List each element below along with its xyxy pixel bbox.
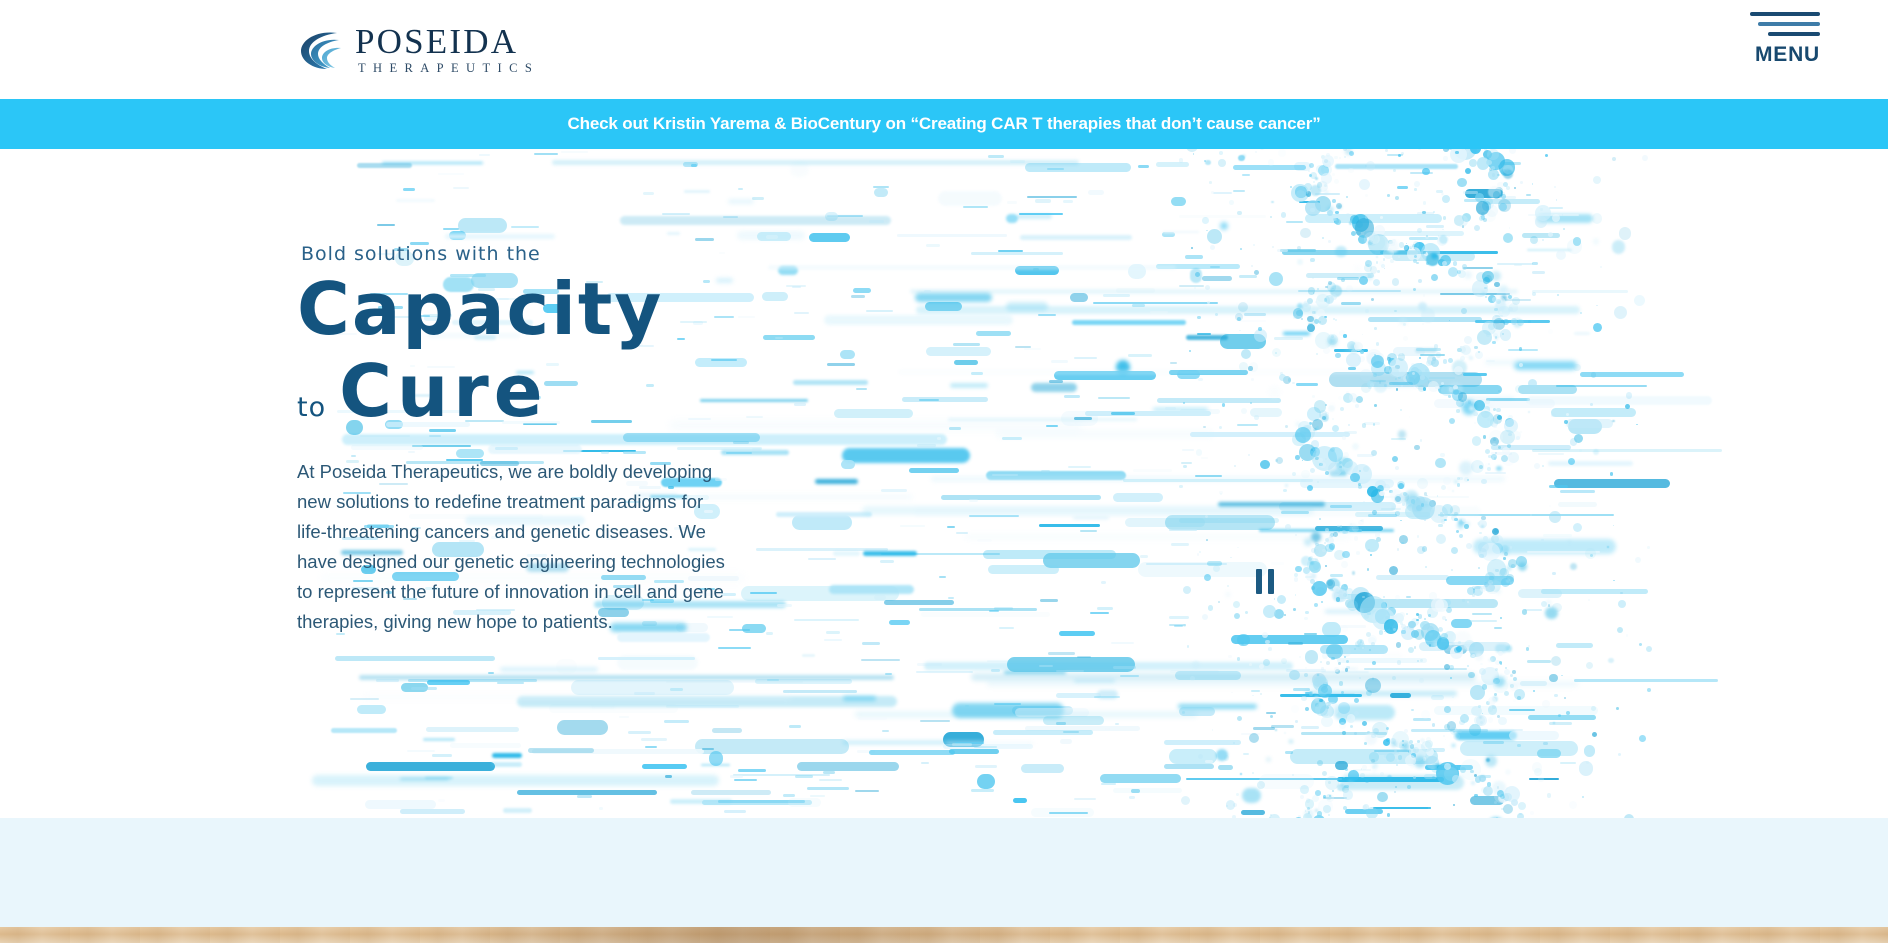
lower-section: [0, 818, 1888, 943]
hero-eyebrow: Bold solutions with the: [301, 243, 767, 266]
hamburger-menu-icon: [1740, 12, 1820, 36]
page-root: POSEIDA THERAPEUTICS MENU Check out Kris…: [0, 0, 1888, 943]
menu-button-label: MENU: [1755, 44, 1820, 65]
logo-subtitle: THERAPEUTICS: [358, 62, 539, 76]
wave-swoosh-icon: [297, 28, 345, 72]
pause-slideshow-button[interactable]: [1248, 564, 1282, 598]
site-logo[interactable]: POSEIDA THERAPEUTICS: [297, 24, 539, 75]
announcement-banner[interactable]: Check out Kristin Yarema & BioCentury on…: [0, 99, 1888, 149]
hero-headline-line-1: Capacity: [297, 271, 767, 347]
pause-icon: [1256, 569, 1262, 594]
site-header: POSEIDA THERAPEUTICS MENU: [0, 0, 1888, 100]
hamburger-line-3: [1768, 32, 1820, 36]
hero-copy: Bold solutions with the Capacity to Cure…: [297, 243, 767, 637]
hero-headline-line-2: to Cure: [297, 353, 767, 429]
logo-wordmark: POSEIDA THERAPEUTICS: [355, 24, 539, 75]
logo-name: POSEIDA: [355, 24, 539, 60]
hamburger-line-2: [1758, 22, 1820, 26]
pause-icon-bar-2: [1268, 569, 1274, 594]
hero-paragraph: At Poseida Therapeutics, we are boldly d…: [297, 457, 737, 637]
desk-shadow: [430, 927, 1070, 943]
hamburger-line-1: [1750, 12, 1820, 16]
menu-button[interactable]: MENU: [1740, 12, 1820, 65]
hero-headline-prefix: to: [297, 394, 326, 421]
announcement-banner-text: Check out Kristin Yarema & BioCentury on…: [567, 114, 1320, 134]
hero-headline-word: Cure: [339, 353, 547, 429]
